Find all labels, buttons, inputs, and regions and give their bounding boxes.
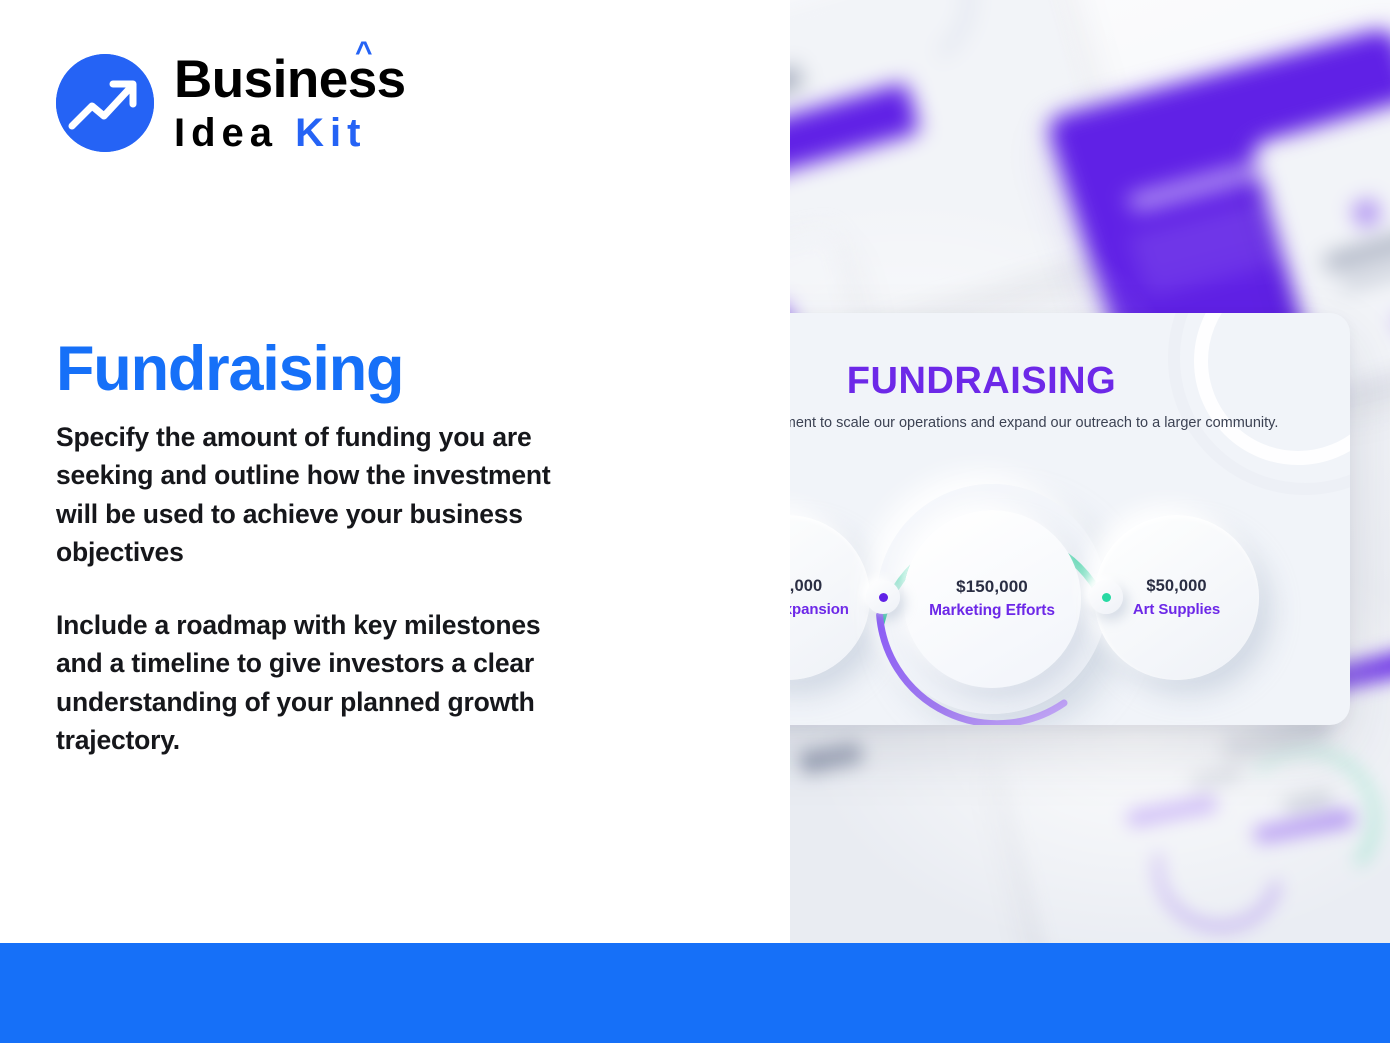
bottom-accent-bar xyxy=(0,943,1390,1043)
item-amount: $50,000 xyxy=(1146,576,1206,597)
brand-wordmark: Business ^ Idea Kit xyxy=(174,53,406,153)
brand-name-line-1: Business ^ xyxy=(174,53,406,106)
body-paragraph-2: Include a roadmap with key milestones an… xyxy=(56,606,566,760)
center-circle-inner: $150,000 Marketing Efforts xyxy=(903,510,1081,688)
body-paragraph-1: Specify the amount of funding you are se… xyxy=(56,418,566,572)
item-label: Marketing Efforts xyxy=(929,601,1055,621)
item-label: Art Supplies xyxy=(1133,600,1220,620)
connector-dot-left xyxy=(879,593,888,602)
brand-caret-accent-icon: ^ xyxy=(355,38,372,68)
brand-name-line-2: Idea Kit xyxy=(174,113,406,153)
slide-page: Business ^ Idea Kit Fundraising Specify … xyxy=(0,0,1390,1043)
brand-kit-text: Kit xyxy=(295,111,366,155)
connector-node-right xyxy=(1089,580,1123,614)
body-copy: Specify the amount of funding you are se… xyxy=(56,418,566,759)
page-title: Fundraising xyxy=(56,338,403,401)
item-amount: $150,000 xyxy=(956,576,1028,598)
brand-logo: Business ^ Idea Kit xyxy=(56,53,406,153)
left-content-panel: Business ^ Idea Kit Fundraising Specify … xyxy=(0,0,790,943)
brand-subname-text: Idea xyxy=(174,111,278,155)
connector-dot-right xyxy=(1102,593,1111,602)
fundraising-item-marketing-efforts[interactable]: $150,000 Marketing Efforts xyxy=(877,484,1107,714)
connector-node-left xyxy=(866,580,900,614)
growth-arrow-chart-icon xyxy=(56,54,154,152)
